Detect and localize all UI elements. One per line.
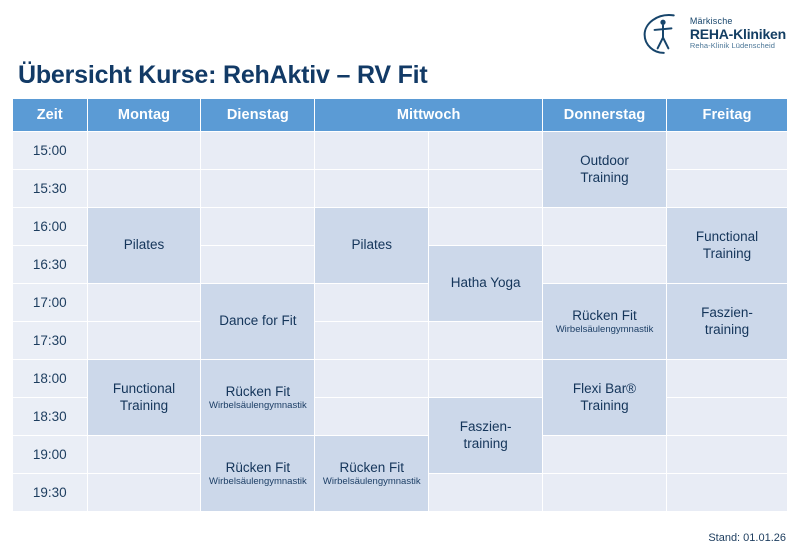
logo-line-3: Reha-Klinik Lüdenscheid	[690, 42, 786, 50]
empty-slot	[88, 170, 201, 207]
empty-slot	[429, 322, 542, 359]
empty-slot	[667, 170, 787, 207]
course-subtitle: Wirbelsäulengymnastik	[201, 400, 314, 411]
course-name: Rücken Fit	[201, 460, 314, 476]
time-label: 19:00	[13, 436, 87, 473]
time-label: 17:00	[13, 284, 87, 321]
course-name: Pilates	[315, 237, 428, 253]
course-cell[interactable]: Rücken FitWirbelsäulengymnastik	[543, 284, 666, 359]
empty-slot	[201, 132, 314, 169]
course-name: Rücken Fit	[315, 460, 428, 476]
column-header-zeit: Zeit	[13, 99, 87, 131]
clinic-logo: Märkische REHA-Kliniken Reha-Klinik Lüde…	[640, 10, 786, 56]
empty-slot	[88, 132, 201, 169]
course-cell[interactable]: Rücken FitWirbelsäulengymnastik	[201, 360, 314, 435]
course-name: Functional Training	[667, 229, 787, 262]
empty-slot	[429, 360, 542, 397]
schedule-row: 17:00Dance for FitRücken FitWirbelsäulen…	[13, 284, 787, 321]
course-cell[interactable]: Flexi Bar® Training	[543, 360, 666, 435]
schedule-row: 15:00Outdoor Training	[13, 132, 787, 169]
empty-slot	[429, 474, 542, 511]
empty-slot	[201, 208, 314, 245]
course-schedule-table: ZeitMontagDienstagMittwochDonnerstagFrei…	[12, 98, 788, 512]
time-label: 15:00	[13, 132, 87, 169]
schedule-header-row: ZeitMontagDienstagMittwochDonnerstagFrei…	[13, 99, 787, 131]
course-cell[interactable]: Outdoor Training	[543, 132, 666, 207]
empty-slot	[201, 246, 314, 283]
course-name: Outdoor Training	[543, 153, 666, 186]
schedule-row: 15:30	[13, 170, 787, 207]
course-name: Functional Training	[88, 381, 201, 414]
course-name: Hatha Yoga	[429, 275, 542, 291]
empty-slot	[667, 132, 787, 169]
empty-slot	[315, 398, 428, 435]
empty-slot	[315, 284, 428, 321]
page-title: Übersicht Kurse: RehAktiv – RV Fit	[18, 61, 428, 90]
schedule-table-wrapper: ZeitMontagDienstagMittwochDonnerstagFrei…	[12, 98, 788, 512]
course-subtitle: Wirbelsäulengymnastik	[543, 324, 666, 335]
logo-line-1: Märkische	[690, 17, 786, 26]
empty-slot	[315, 132, 428, 169]
stand-date-label: Stand: 01.01.26	[708, 532, 786, 544]
course-name: Dance for Fit	[201, 313, 314, 329]
empty-slot	[543, 474, 666, 511]
empty-slot	[88, 436, 201, 473]
time-label: 18:30	[13, 398, 87, 435]
course-subtitle: Wirbelsäulengymnastik	[201, 476, 314, 487]
time-label: 19:30	[13, 474, 87, 511]
course-cell[interactable]: Pilates	[315, 208, 428, 283]
course-cell[interactable]: Functional Training	[667, 208, 787, 283]
schedule-table-body: 15:00Outdoor Training15:3016:00PilatesPi…	[13, 132, 787, 511]
schedule-row: 19:00Rücken FitWirbelsäulengymnastikRück…	[13, 436, 787, 473]
empty-slot	[543, 246, 666, 283]
course-name: Rücken Fit	[201, 384, 314, 400]
empty-slot	[543, 208, 666, 245]
course-cell[interactable]: Rücken FitWirbelsäulengymnastik	[201, 436, 314, 511]
logo-line-2: REHA-Kliniken	[690, 27, 786, 41]
column-header-montag: Montag	[88, 99, 201, 131]
column-header-donnerstag: Donnerstag	[543, 99, 666, 131]
course-subtitle: Wirbelsäulengymnastik	[315, 476, 428, 487]
time-label: 18:00	[13, 360, 87, 397]
time-label: 16:00	[13, 208, 87, 245]
schedule-row: 16:00PilatesPilatesFunctional Training	[13, 208, 787, 245]
empty-slot	[201, 170, 314, 207]
column-header-mittwoch: Mittwoch	[315, 99, 542, 131]
course-name: Rücken Fit	[543, 308, 666, 324]
course-cell[interactable]: Functional Training	[88, 360, 201, 435]
course-cell[interactable]: Faszien- training	[667, 284, 787, 359]
schedule-table-head: ZeitMontagDienstagMittwochDonnerstagFrei…	[13, 99, 787, 131]
course-cell[interactable]: Rücken FitWirbelsäulengymnastik	[315, 436, 428, 511]
column-header-dienstag: Dienstag	[201, 99, 314, 131]
empty-slot	[88, 474, 201, 511]
course-cell[interactable]: Pilates	[88, 208, 201, 283]
empty-slot	[429, 170, 542, 207]
reha-figure-circle-icon	[640, 10, 686, 56]
empty-slot	[543, 436, 666, 473]
column-header-freitag: Freitag	[667, 99, 787, 131]
empty-slot	[667, 360, 787, 397]
course-cell[interactable]: Dance for Fit	[201, 284, 314, 359]
course-name: Pilates	[88, 237, 201, 253]
empty-slot	[88, 322, 201, 359]
course-name: Faszien- training	[429, 419, 542, 452]
empty-slot	[667, 436, 787, 473]
time-label: 15:30	[13, 170, 87, 207]
time-label: 16:30	[13, 246, 87, 283]
empty-slot	[315, 170, 428, 207]
empty-slot	[315, 360, 428, 397]
empty-slot	[429, 132, 542, 169]
course-name: Faszien- training	[667, 305, 787, 338]
course-cell[interactable]: Faszien- training	[429, 398, 542, 473]
empty-slot	[88, 284, 201, 321]
empty-slot	[429, 208, 542, 245]
empty-slot	[667, 398, 787, 435]
schedule-row: 18:00Functional TrainingRücken FitWirbel…	[13, 360, 787, 397]
time-label: 17:30	[13, 322, 87, 359]
empty-slot	[667, 474, 787, 511]
course-cell[interactable]: Hatha Yoga	[429, 246, 542, 321]
course-name: Flexi Bar® Training	[543, 381, 666, 414]
empty-slot	[315, 322, 428, 359]
